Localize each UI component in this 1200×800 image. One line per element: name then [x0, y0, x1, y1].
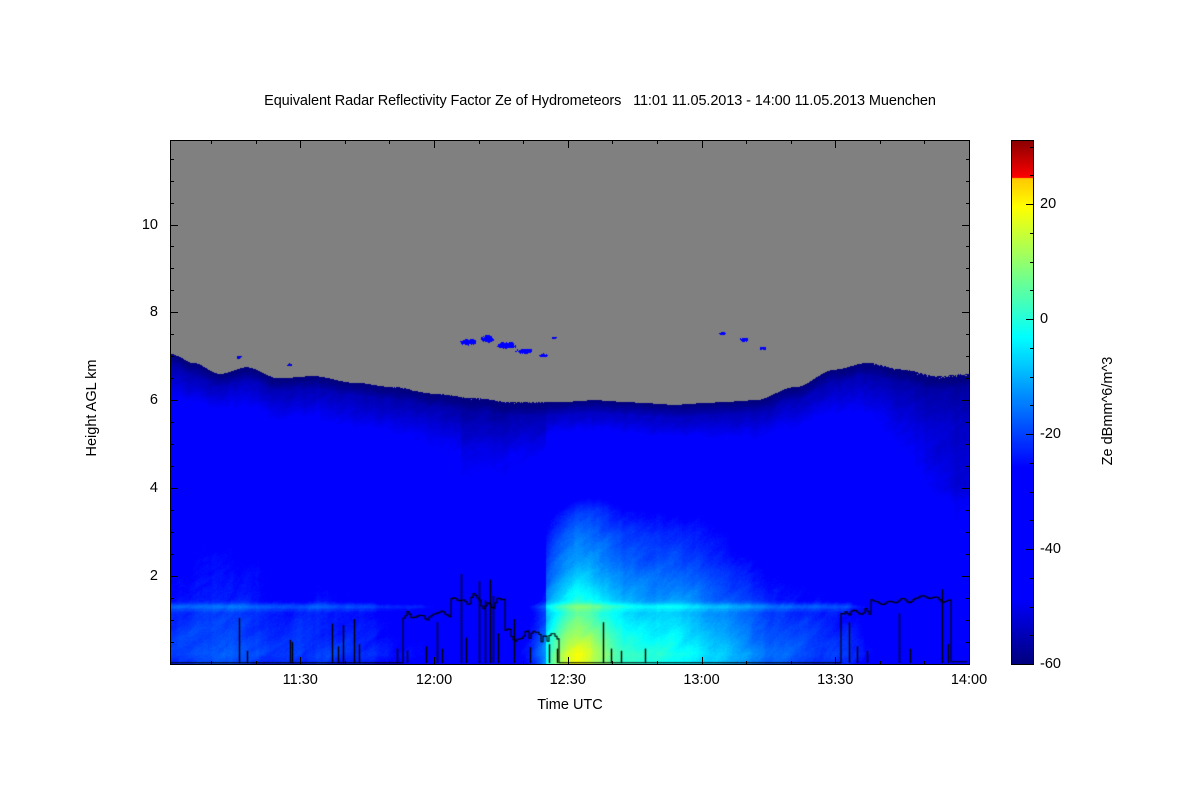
axis-tick: [746, 661, 747, 665]
axis-tick: [479, 661, 480, 665]
colorbar-tick: [1030, 635, 1034, 636]
axis-tick: [170, 532, 174, 533]
axis-tick: [612, 661, 613, 665]
colorbar-tick: [1026, 434, 1034, 435]
axis-tick: [523, 140, 524, 144]
y-tick-label: 6: [118, 392, 158, 408]
axis-tick: [300, 140, 301, 148]
colorbar-tick: [1030, 175, 1034, 176]
y-tick-label: 8: [118, 304, 158, 320]
axis-tick: [211, 661, 212, 665]
axis-tick: [966, 620, 970, 621]
axis-tick: [170, 290, 174, 291]
axis-tick: [835, 140, 836, 148]
axis-tick: [962, 400, 970, 401]
x-tick-label: 11:30: [283, 672, 318, 688]
radar-plot-page: Equivalent Radar Reflectivity Factor Ze …: [0, 0, 1200, 800]
axis-tick: [702, 657, 703, 665]
axis-tick: [170, 181, 174, 182]
axis-tick: [170, 159, 174, 160]
colorbar-tick-label: -20: [1040, 426, 1061, 442]
colorbar-tick: [1030, 607, 1034, 608]
colorbar-tick-label: -60: [1040, 656, 1061, 672]
axis-tick: [962, 576, 970, 577]
axis-tick: [170, 444, 174, 445]
axis-tick: [568, 657, 569, 665]
axis-tick: [966, 532, 970, 533]
axis-tick: [966, 290, 970, 291]
axis-tick: [746, 140, 747, 144]
axis-tick: [345, 661, 346, 665]
axis-tick: [170, 203, 174, 204]
axis-tick: [966, 444, 970, 445]
colorbar-tick: [1030, 262, 1034, 263]
colorbar-tick-label: 0: [1040, 311, 1048, 327]
axis-tick: [170, 576, 178, 577]
axis-tick: [966, 334, 970, 335]
y-tick-label: 2: [118, 568, 158, 584]
axis-tick: [962, 312, 970, 313]
axis-tick: [170, 466, 174, 467]
axis-tick: [966, 466, 970, 467]
axis-tick: [211, 140, 212, 144]
x-axis-label: Time UTC: [170, 697, 970, 713]
axis-tick: [170, 378, 174, 379]
axis-tick: [170, 312, 178, 313]
axis-tick: [170, 268, 174, 269]
axis-tick: [966, 356, 970, 357]
axis-tick: [434, 657, 435, 665]
axis-tick: [300, 657, 301, 665]
axis-tick: [389, 661, 390, 665]
axis-tick: [523, 661, 524, 665]
axis-tick: [924, 661, 925, 665]
axis-tick: [170, 400, 178, 401]
axis-tick: [170, 554, 174, 555]
axis-tick: [791, 661, 792, 665]
axis-tick: [170, 510, 174, 511]
axis-tick: [256, 661, 257, 665]
axis-tick: [256, 140, 257, 144]
axis-tick: [479, 140, 480, 144]
axis-tick: [880, 140, 881, 144]
axis-tick: [966, 378, 970, 379]
axis-tick: [345, 140, 346, 144]
colorbar-label: Ze dBmm^6/m^3: [1100, 281, 1116, 541]
axis-tick: [966, 268, 970, 269]
x-tick-label: 12:00: [416, 672, 452, 688]
axis-tick: [962, 225, 970, 226]
axis-tick: [966, 664, 970, 665]
axis-tick: [170, 664, 174, 665]
colorbar-tick: [1030, 578, 1034, 579]
colorbar-tick: [1030, 492, 1034, 493]
y-axis-label: Height AGL km: [84, 308, 100, 508]
reflectivity-heatmap: [171, 141, 969, 664]
page-title: Equivalent Radar Reflectivity Factor Ze …: [0, 93, 1200, 109]
axis-tick: [657, 661, 658, 665]
colorbar-tick: [1026, 549, 1034, 550]
colorbar-tick: [1030, 377, 1034, 378]
axis-tick: [170, 225, 178, 226]
plot-area: [170, 140, 970, 665]
axis-tick: [170, 334, 174, 335]
colorbar-tick: [1030, 463, 1034, 464]
axis-tick: [657, 140, 658, 144]
axis-tick: [966, 181, 970, 182]
colorbar: [1011, 140, 1034, 665]
axis-tick: [170, 246, 174, 247]
colorbar-tick: [1030, 405, 1034, 406]
axis-tick: [170, 598, 174, 599]
axis-tick: [568, 140, 569, 148]
x-tick-label: 12:30: [550, 672, 586, 688]
axis-tick: [170, 488, 178, 489]
x-tick-label: 13:00: [683, 672, 719, 688]
axis-tick: [170, 356, 174, 357]
colorbar-tick-label: -40: [1040, 541, 1061, 557]
axis-tick: [966, 422, 970, 423]
x-tick-label: 13:30: [817, 672, 853, 688]
colorbar-tick: [1026, 664, 1034, 665]
colorbar-tick: [1030, 520, 1034, 521]
colorbar-tick: [1030, 348, 1034, 349]
axis-tick: [966, 246, 970, 247]
colorbar-tick-label: 20: [1040, 196, 1056, 212]
axis-tick: [835, 657, 836, 665]
x-tick-label: 14:00: [951, 672, 987, 688]
colorbar-tick: [1030, 290, 1034, 291]
y-tick-label: 4: [118, 480, 158, 496]
axis-tick: [966, 159, 970, 160]
axis-tick: [924, 140, 925, 144]
axis-tick: [966, 554, 970, 555]
colorbar-tick: [1030, 233, 1034, 234]
axis-tick: [702, 140, 703, 148]
axis-tick: [966, 642, 970, 643]
axis-tick: [170, 642, 174, 643]
axis-tick: [791, 140, 792, 144]
axis-tick: [966, 510, 970, 511]
axis-tick: [170, 422, 174, 423]
axis-tick: [966, 203, 970, 204]
axis-tick: [880, 661, 881, 665]
colorbar-tick: [1026, 319, 1034, 320]
axis-tick: [962, 488, 970, 489]
y-tick-label: 10: [118, 217, 158, 233]
axis-tick: [969, 140, 970, 148]
colorbar-tick: [1030, 147, 1034, 148]
axis-tick: [389, 140, 390, 144]
axis-tick: [612, 140, 613, 144]
axis-tick: [434, 140, 435, 148]
axis-tick: [966, 598, 970, 599]
colorbar-gradient: [1012, 141, 1033, 664]
axis-tick: [170, 620, 174, 621]
colorbar-tick: [1026, 204, 1034, 205]
